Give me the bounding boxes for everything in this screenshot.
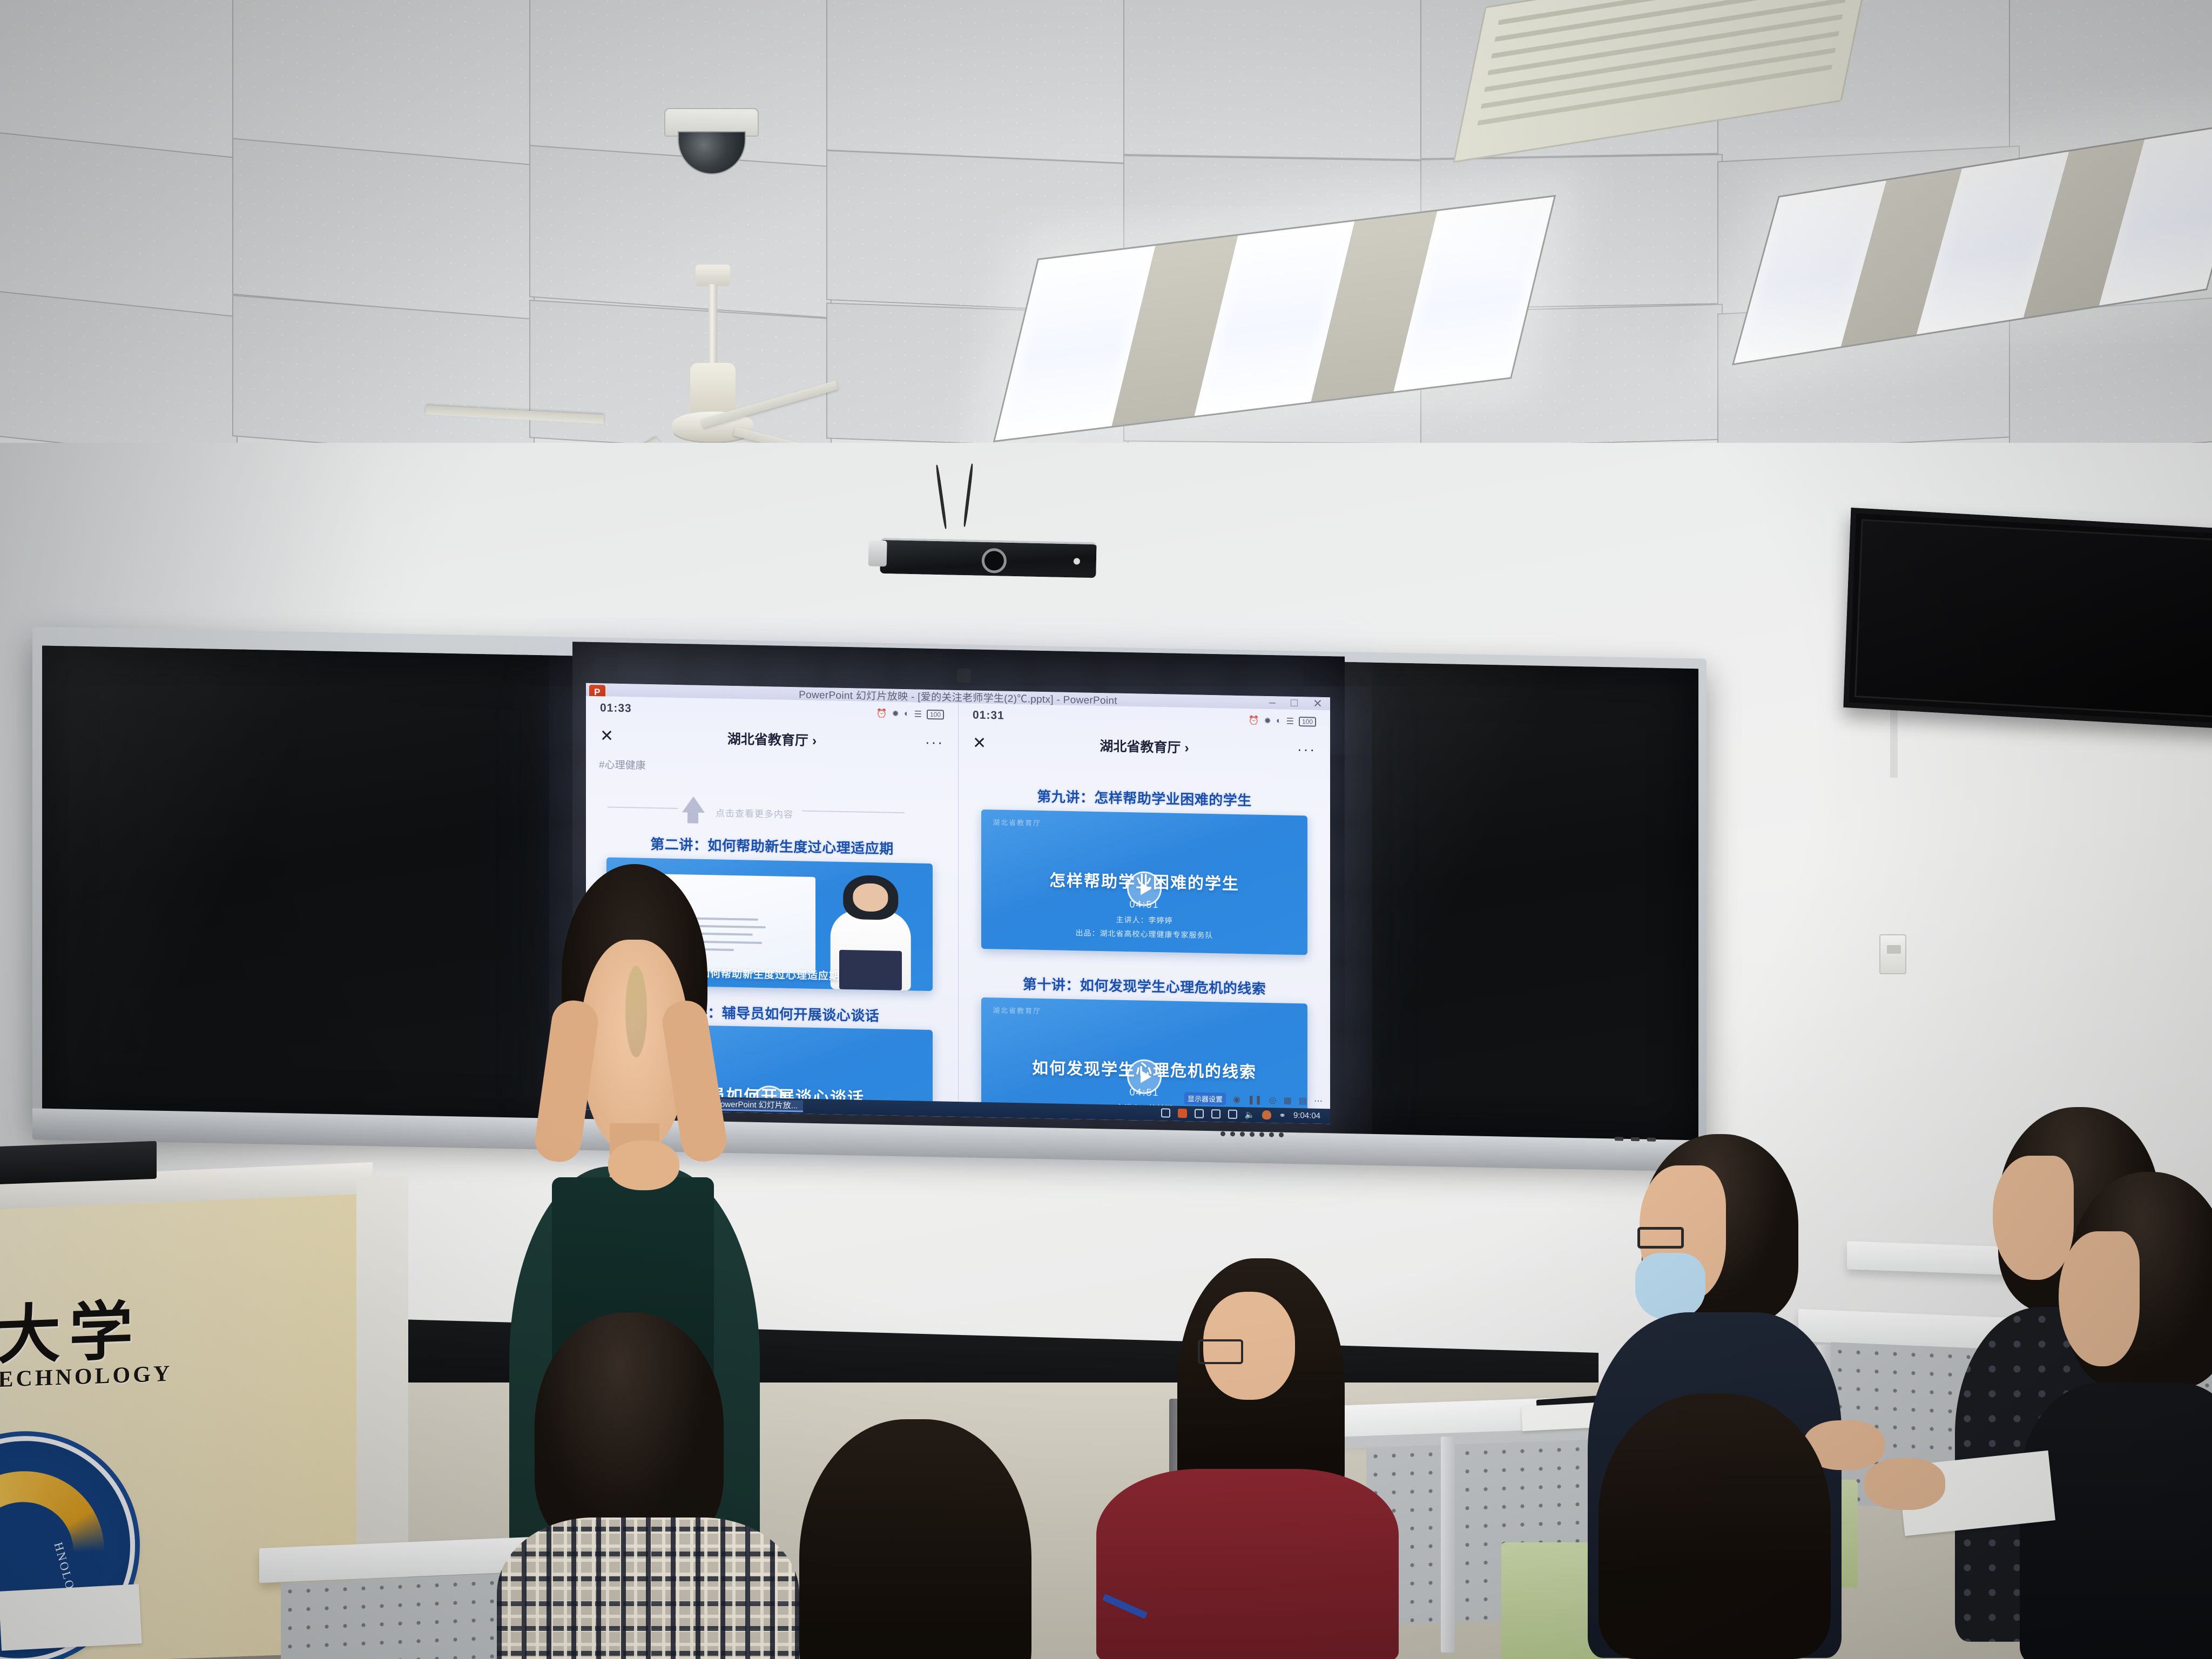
ceiling [0, 0, 2212, 486]
head [535, 1312, 724, 1550]
wall-mounted-conference-camera [880, 538, 1096, 578]
arrow-stem [687, 813, 698, 824]
hand [1864, 1458, 1945, 1510]
long-hair [799, 1419, 1031, 1659]
tv-power-cord [1890, 707, 1898, 778]
usb-icon[interactable] [1195, 1109, 1204, 1118]
antivirus-icon[interactable] [1178, 1109, 1187, 1118]
status-time: 01:31 [973, 709, 1004, 723]
battery-icon[interactable] [1211, 1109, 1220, 1118]
lecture-title-9: 第九讲：怎样帮助学业困难的学生 [959, 785, 1330, 812]
chevron-right-icon: › [1184, 741, 1189, 756]
face [1993, 1156, 2074, 1280]
podium-english-text: OF TECHNOLOGY [0, 1361, 172, 1395]
front-desk-leg [1441, 1437, 1455, 1653]
classroom-scene: P PowerPoint 幻灯片放映 - [爱的关注老师学生(2)℃.pptx]… [0, 0, 2212, 1659]
minimize-button[interactable]: – [1269, 696, 1276, 709]
bluetooth-icon: ✹ [892, 709, 899, 719]
video-card-header: 湖北省教育厅 [993, 817, 1041, 828]
podium-equipment [0, 1141, 157, 1184]
display-icon[interactable] [1228, 1110, 1237, 1119]
long-hair [1599, 1393, 1831, 1659]
phone-screenshot-right: 01:31 ⏰ ✹ ◐ ☰ 100 ✕ 湖北省教育厅 › ··· 第九讲：怎样帮… [958, 703, 1330, 1124]
glasses-icon [1637, 1227, 1684, 1249]
window-controls[interactable]: – □ ✕ [1269, 696, 1323, 710]
video-duration: 04:51 [981, 896, 1307, 914]
status-icons: ⏰ ✹ ◐ ☰ 100 [1249, 716, 1316, 727]
close-button[interactable]: ✕ [1313, 697, 1323, 710]
miniprogram-nav-right: ✕ 湖北省教育厅 › ··· [959, 729, 1330, 765]
video-card-header: 湖北省教育厅 [993, 1005, 1041, 1016]
topic-tag: #心理健康 [599, 757, 646, 773]
arrow-up-icon [682, 797, 705, 813]
podium-paper [0, 1584, 142, 1650]
video-card-lecture-9[interactable]: 湖北省教育厅 怎样帮助学业困难的学生 04:51 主讲人：李婷婷 出品：湖北省高… [981, 810, 1307, 955]
grid-icon[interactable]: ▦ [1284, 1095, 1292, 1105]
folder-icon[interactable] [1161, 1108, 1170, 1117]
alarm-icon: ⏰ [1249, 716, 1259, 726]
bluetooth-icon: ✹ [1264, 716, 1271, 726]
battery-icon: 100 [1299, 717, 1316, 727]
camera-indicator-icon [1074, 558, 1080, 564]
alarm-icon: ⏰ [876, 709, 887, 719]
speaker-grille-right [1615, 1137, 1656, 1141]
ceiling-dome-camera [664, 108, 759, 176]
glasses-icon [1198, 1339, 1243, 1364]
zoom-icon[interactable]: ◎ [1269, 1095, 1277, 1105]
maximize-button[interactable]: □ [1291, 697, 1298, 710]
battery-icon: 100 [927, 710, 944, 720]
blackboard-left-panel [42, 645, 577, 1131]
pause-icon[interactable]: ❚❚ [1247, 1094, 1262, 1105]
blackboard-right-panel [1339, 662, 1698, 1142]
display-settings-label[interactable]: 显示器设置 [1184, 1092, 1226, 1105]
link-icon[interactable]: ⚭ [1279, 1110, 1286, 1120]
signal-icon: ☰ [1286, 716, 1294, 727]
scroll-hint-label: 点击查看更多内容 [716, 806, 793, 821]
presenter-dress-embroidery [625, 966, 647, 1057]
more-options-icon[interactable]: ⋯ [1314, 1095, 1323, 1106]
pointer-icon[interactable]: ◉ [1233, 1094, 1240, 1104]
taskbar-item-label: PowerPoint 幻灯片放... [715, 1098, 798, 1111]
system-tray[interactable]: 🔈 ⚭ 9:04:04 [1161, 1108, 1326, 1121]
video-producer: 出品：湖北省高校心理健康专家服务队 [981, 925, 1307, 942]
ceiling-fan [572, 265, 853, 470]
presenter-hands [608, 1141, 679, 1190]
status-time: 01:33 [600, 702, 632, 716]
wall-network-jack [1879, 934, 1906, 974]
status-icons: ⏰ ✹ ◐ ☰ 100 [876, 709, 944, 720]
wifi-icon: ◐ [1276, 717, 1282, 726]
chevron-right-icon: › [812, 733, 817, 748]
miniprogram-title: 湖北省教育厅 › [959, 733, 1330, 760]
signal-icon: ☰ [914, 709, 922, 720]
wall-mounted-display [1843, 508, 2212, 729]
tray-clock[interactable]: 9:04:04 [1293, 1111, 1320, 1121]
shield-icon[interactable] [1262, 1110, 1271, 1120]
wifi-icon: ◐ [904, 710, 909, 719]
miniprogram-title: 湖北省教育厅 › [586, 726, 958, 752]
plaid-shirt [497, 1518, 799, 1659]
ir-sensor-icon [957, 669, 971, 683]
volume-icon[interactable]: 🔈 [1245, 1110, 1255, 1120]
lecture-title-2: 第二讲：如何帮助新生度过心理适应期 [586, 832, 958, 859]
notes-icon[interactable]: ▤ [1299, 1095, 1307, 1106]
face [2059, 1231, 2140, 1366]
lecture-title-10: 第十讲：如何发现学生心理危机的线索 [959, 973, 1330, 1000]
camera-lens-icon [981, 548, 1007, 573]
face-mask [1635, 1253, 1705, 1320]
maroon-top [1096, 1469, 1399, 1659]
miniprogram-nav-left: ✕ 湖北省教育厅 › ··· [586, 721, 958, 757]
